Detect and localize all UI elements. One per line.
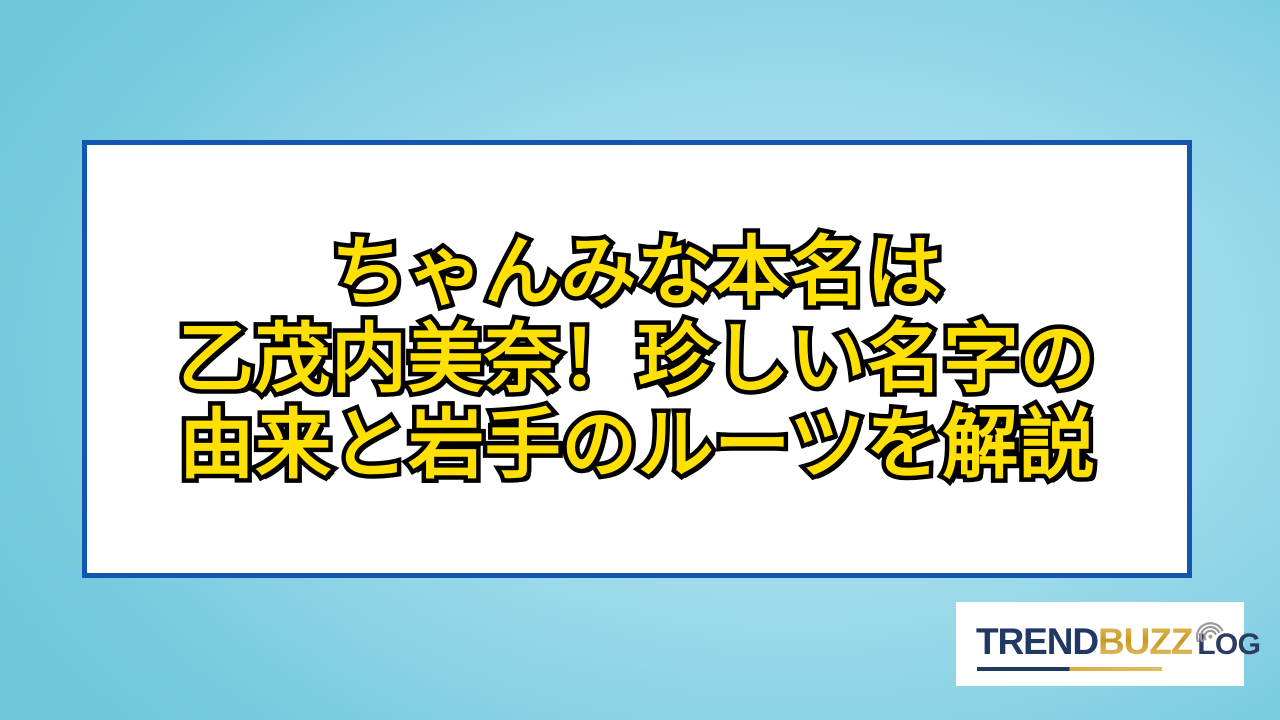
brand-underline [977,667,1162,671]
signal-waves-icon [1192,612,1226,642]
title-line-2: 乙茂内美奈！珍しい名字の [97,316,1177,403]
brand-text-buzz: BUZZ [1098,623,1192,660]
thumbnail-canvas: ちゃんみな本名は 乙茂内美奈！珍しい名字の 由来と岩手のルーツを解説 TREND… [0,0,1280,720]
page-title: ちゃんみな本名は 乙茂内美奈！珍しい名字の 由来と岩手のルーツを解説 [87,229,1187,489]
brand-logo: TREND BUZZ LOG [976,617,1224,671]
brand-text-trend: TREND [976,623,1098,660]
title-panel: ちゃんみな本名は 乙茂内美奈！珍しい名字の 由来と岩手のルーツを解説 [82,140,1192,578]
title-line-3: 由来と岩手のルーツを解説 [97,402,1177,489]
brand-logo-badge: TREND BUZZ LOG [956,602,1244,686]
title-line-1: ちゃんみな本名は [97,229,1177,316]
